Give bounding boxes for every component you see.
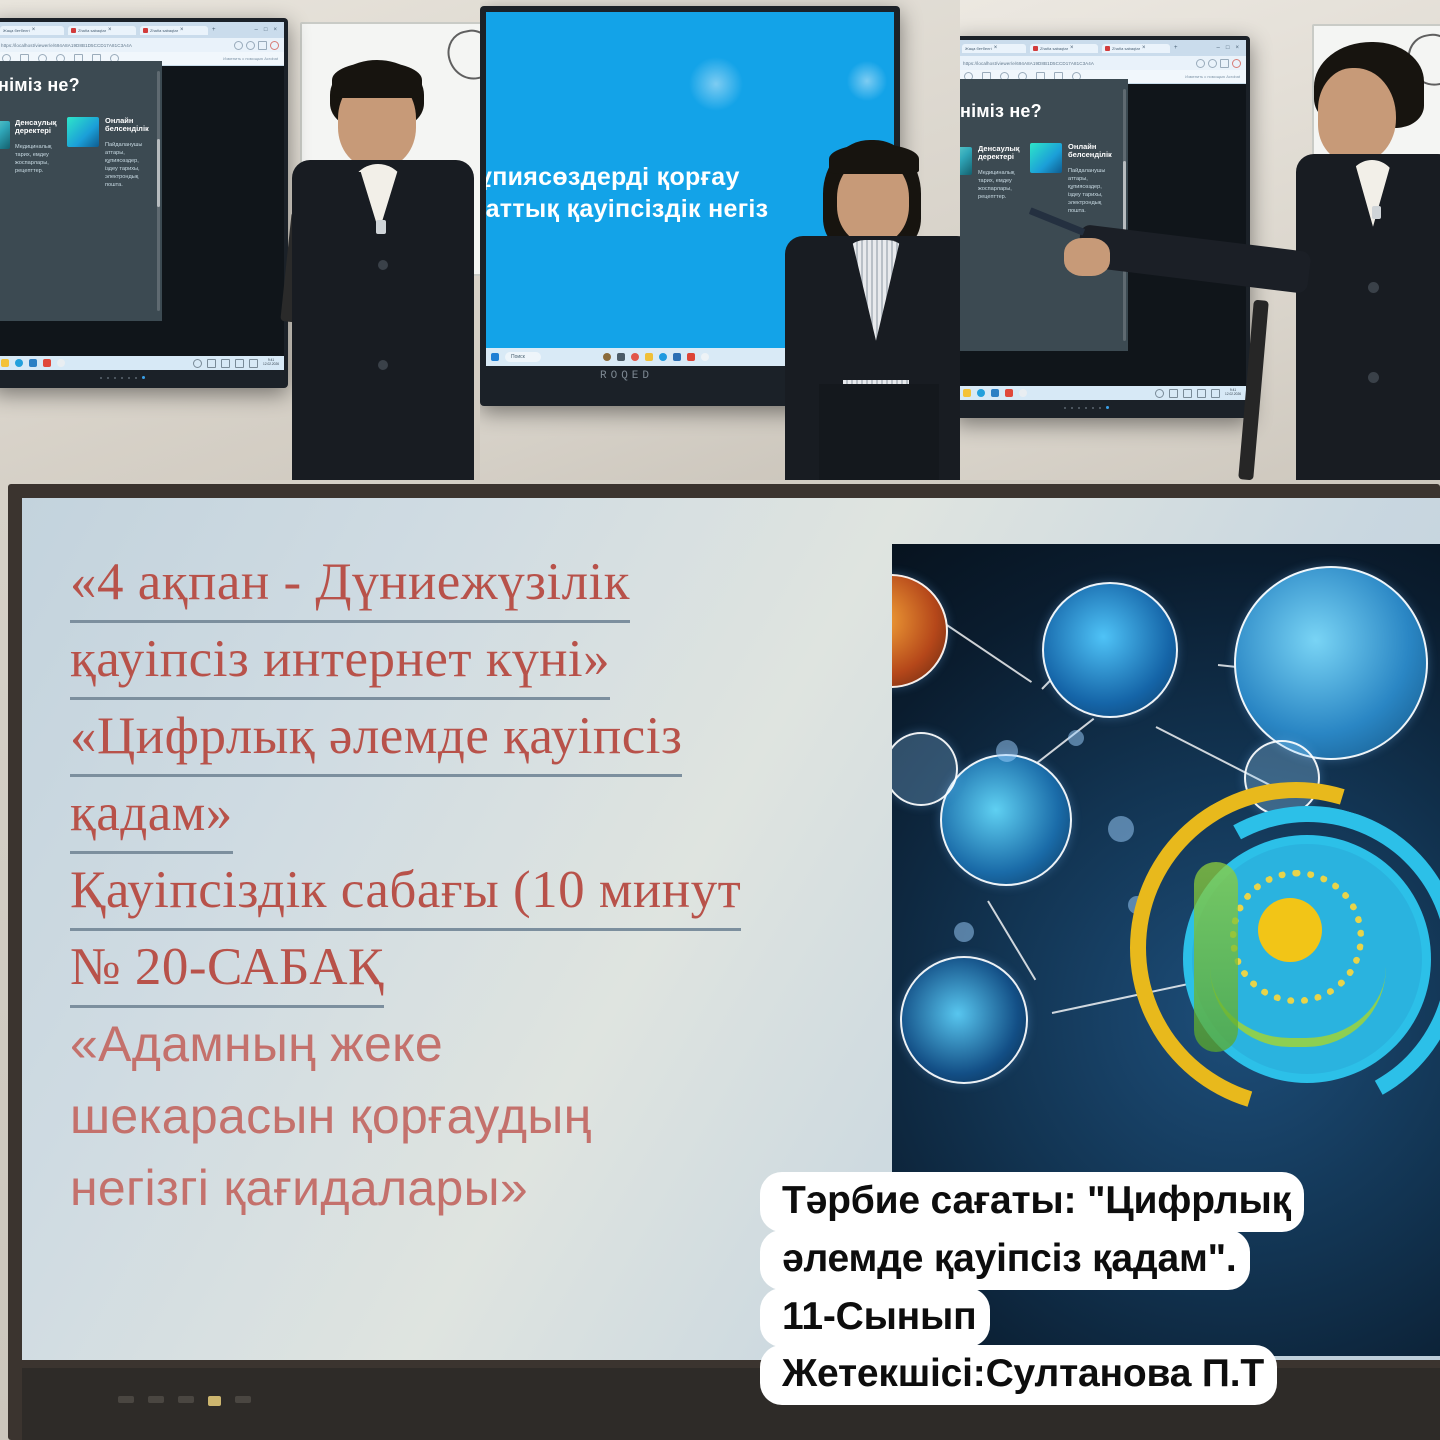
slide-line: «Цифрлық әлемде қауіпсіз	[70, 700, 682, 777]
acrobat-hint: Изменить с помощью Acrobat	[1185, 74, 1240, 79]
main-display-controls[interactable]	[118, 1396, 251, 1406]
system-tray[interactable]: 9:41 12.02.2026	[193, 359, 279, 368]
tab-favicon	[1105, 46, 1110, 51]
hair-front	[332, 62, 422, 98]
tab-close-icon[interactable]: ×	[32, 27, 36, 33]
slide-heading: німіз не?	[0, 75, 80, 96]
close-button[interactable]: ×	[273, 27, 277, 33]
node-photo	[940, 754, 1072, 886]
keyboard-icon[interactable]	[207, 359, 216, 368]
volume-icon[interactable]	[235, 359, 244, 368]
extensions-icon[interactable]	[258, 41, 267, 50]
opera-icon[interactable]	[631, 353, 639, 361]
minimize-button[interactable]: –	[1217, 45, 1220, 51]
start-icon[interactable]	[491, 353, 499, 361]
start-icon[interactable]	[963, 389, 971, 397]
browser-chrome: Жаңа бетбелгі × Zhaña sabaqtar × Zhaña s…	[0, 22, 284, 66]
edge-icon[interactable]	[977, 389, 985, 397]
online-activity-icon	[1030, 143, 1062, 173]
slide-line: қауіпсіз интернет күні»	[70, 623, 610, 700]
slide-line: шекарасын қорғаудың	[70, 1088, 592, 1144]
volume-icon[interactable]	[1197, 389, 1206, 398]
pdf-reader-icon[interactable]	[43, 359, 51, 367]
pdf-reader-icon[interactable]	[1005, 389, 1013, 397]
chevron-up-icon[interactable]	[193, 359, 202, 368]
keyboard-icon[interactable]	[1169, 389, 1178, 398]
skirt	[819, 384, 939, 480]
start-icon[interactable]	[1, 359, 9, 367]
online-activity-icon	[67, 117, 99, 147]
scrollbar-thumb[interactable]	[1123, 161, 1126, 232]
battery-icon[interactable]	[249, 359, 258, 368]
browser-address-row[interactable]: https://localhost/viewer/e/694A8A19D8B1D…	[0, 38, 284, 52]
caption-line: Жетекшісі:Султанова П.Т	[760, 1345, 1277, 1405]
new-tab-button[interactable]: +	[212, 27, 216, 33]
caption-line: әлемде қауіпсіз қадам".	[760, 1230, 1250, 1290]
profile-icon[interactable]	[270, 41, 279, 50]
column-title: Онлайн белсенділік	[105, 117, 150, 134]
network-icon[interactable]	[1183, 389, 1192, 398]
chevron-up-icon[interactable]	[1155, 389, 1164, 398]
bookmark-star-icon[interactable]	[1196, 59, 1205, 68]
button	[378, 260, 388, 270]
slide-line: раттық қауіпсіздік негіз	[486, 194, 768, 225]
browser-tab[interactable]: Zhaña sabaqtar ×	[1102, 44, 1170, 53]
browser-tab[interactable]: Zhaña sabaqtar ×	[68, 26, 136, 35]
pdf-reader-icon[interactable]	[687, 353, 695, 361]
browser-tab-bar[interactable]: Жаңа бетбелгі × Zhaña sabaqtar × Zhaña s…	[960, 40, 1246, 56]
health-data-icon	[960, 147, 972, 175]
maximize-button[interactable]: □	[264, 27, 268, 33]
slide-line: «Адамның жеке	[70, 1016, 443, 1072]
column-title: Денсаулық деректері	[15, 119, 57, 136]
pdf-slide: німіз не? Денсаулық деректері Медициналы…	[0, 61, 162, 321]
tab-close-icon[interactable]: ×	[994, 45, 998, 51]
slide-heading: німіз не?	[960, 101, 1042, 122]
caption-line: Тәрбие сағаты: "Цифрлық	[760, 1172, 1304, 1232]
whatsapp-icon[interactable]	[57, 359, 65, 367]
top-photo-strip: Жаңа бетбелгі × Zhaña sabaqtar × Zhaña s…	[0, 0, 1440, 480]
tab-favicon	[71, 28, 76, 33]
caption-line: 11-Сынып	[760, 1288, 990, 1348]
extensions-icon[interactable]	[1220, 59, 1229, 68]
windows-taskbar[interactable]: 9:41 12.02.2026	[960, 386, 1246, 400]
windows-taskbar[interactable]: 9:41 12.02.2026	[0, 356, 284, 370]
explorer-icon[interactable]	[29, 359, 37, 367]
folder-icon[interactable]	[645, 353, 653, 361]
tab-favicon	[143, 28, 148, 33]
interactive-display[interactable]: Жаңа бетбелгі × Zhaña sabaqtar × Zhaña s…	[0, 18, 288, 388]
network-icon[interactable]	[221, 359, 230, 368]
taskbar-clock[interactable]: 9:41 12.02.2026	[263, 359, 279, 366]
person-student-left	[286, 60, 480, 480]
node-photo	[900, 956, 1028, 1084]
taskbar-search[interactable]: Поиск	[505, 352, 541, 362]
kz-ornament	[1194, 862, 1238, 1052]
person-student-middle	[785, 140, 960, 480]
edge-icon[interactable]	[15, 359, 23, 367]
slide-line: Қауіпсіздік сабағы (10 минут	[70, 854, 741, 931]
browser-tab[interactable]: Zhaña sabaqtar ×	[1030, 44, 1098, 53]
necklace-pendant	[1372, 206, 1381, 219]
column-body: Пайдаланушы аттары, құпиясөздер, іздеу т…	[1068, 167, 1114, 216]
tab-close-icon[interactable]: ×	[180, 27, 184, 33]
button	[378, 360, 388, 370]
terminal-icon[interactable]	[617, 353, 625, 361]
bookmark-star-icon[interactable]	[234, 41, 243, 50]
slide-text-block: «4 ақпан - Дүниежүзілік қауіпсіз интерне…	[70, 546, 870, 1224]
column-body: Медициналық тарих, емдеу жоспарлары, рец…	[978, 169, 1020, 201]
display-brand-logo: ROQED	[600, 370, 653, 382]
download-icon[interactable]	[1208, 59, 1217, 68]
slide-line: «4 ақпан - Дүниежүзілік	[70, 546, 630, 623]
head	[1318, 68, 1396, 162]
edge-icon[interactable]	[659, 353, 667, 361]
acrobat-hint: Изменить с помощью Acrobat	[223, 56, 278, 61]
browser-chrome: Жаңа бетбелгі × Zhaña sabaqtar × Zhaña s…	[960, 40, 1246, 84]
health-data-icon	[0, 121, 10, 149]
photo-panel-right: Жаңа бетбелгі × Zhaña sabaqtar × Zhaña s…	[960, 0, 1440, 480]
column-body: Пайдаланушы аттары, құпиясөздер, іздеу т…	[105, 141, 150, 190]
tab-close-icon[interactable]: ×	[1070, 45, 1074, 51]
maximize-button[interactable]: □	[1226, 45, 1230, 51]
hand	[1064, 238, 1110, 276]
store-icon[interactable]	[673, 353, 681, 361]
column-title: Онлайн белсенділік	[1068, 143, 1114, 160]
browser-address-row[interactable]: https://localhost/viewer/e/694A8A19D8B1D…	[960, 56, 1246, 70]
taskbar-clock[interactable]: 9:41 12.02.2026	[1225, 389, 1241, 396]
download-icon[interactable]	[246, 41, 255, 50]
photo-panel-left: Жаңа бетбелгі × Zhaña sabaqtar × Zhaña s…	[0, 0, 480, 480]
explorer-icon[interactable]	[991, 389, 999, 397]
browser-tab[interactable]: Жаңа бетбелгі ×	[962, 44, 1026, 53]
tab-favicon	[1033, 46, 1038, 51]
tab-close-icon[interactable]: ×	[1142, 45, 1146, 51]
necklace-pendant	[376, 220, 386, 234]
button	[1368, 282, 1379, 293]
column-body: Медициналық тарих, емдеу жоспарлары, рец…	[15, 143, 57, 175]
caption-overlay: Тәрбие сағаты: "Цифрлық әлемде қауіпсіз …	[760, 1172, 1440, 1403]
profile-icon[interactable]	[1232, 59, 1241, 68]
new-tab-button[interactable]: +	[1174, 45, 1178, 51]
address-bar[interactable]: https://localhost/viewer/e/694A8A19D8B1D…	[963, 61, 1193, 66]
minimize-button[interactable]: –	[255, 27, 258, 33]
button	[1368, 372, 1379, 383]
node-photo	[892, 574, 948, 688]
system-tray[interactable]: 9:41 12.02.2026	[1155, 389, 1241, 398]
person-student-right	[1260, 42, 1440, 480]
photo-panel-middle: ұпиясөздерді қорғау раттық қауіпсіздік н…	[480, 0, 960, 480]
slide-line: ұпиясөздерді қорғау	[486, 162, 740, 193]
glare	[846, 60, 888, 102]
browser-tab[interactable]: Жаңа бетбелгі ×	[0, 26, 64, 35]
slide-line: қадам»	[70, 777, 233, 854]
slide-line: № 20-САБАҚ	[70, 931, 384, 1008]
whatsapp-icon[interactable]	[701, 353, 709, 361]
pinned-app-icon[interactable]	[603, 353, 611, 361]
scrollbar-thumb[interactable]	[157, 139, 160, 207]
tab-close-icon[interactable]: ×	[108, 27, 112, 33]
display-led-indicators	[1064, 406, 1109, 409]
kazakhstan-flag-emblem	[1192, 844, 1422, 1074]
whatsapp-icon[interactable]	[1019, 389, 1027, 397]
node-photo	[1042, 582, 1178, 718]
photo-collage: Жаңа бетбелгі × Zhaña sabaqtar × Zhaña s…	[0, 0, 1440, 1440]
display-led-indicators	[100, 376, 145, 379]
close-button[interactable]: ×	[1235, 45, 1239, 51]
address-bar[interactable]: https://localhost/viewer/e/694A8A19D8B1D…	[1, 43, 231, 48]
battery-icon[interactable]	[1211, 389, 1220, 398]
glare	[688, 56, 744, 112]
node-globe	[1234, 566, 1428, 760]
browser-tab-bar[interactable]: Жаңа бетбелгі × Zhaña sabaqtar × Zhaña s…	[0, 22, 284, 38]
hair-front	[829, 144, 919, 174]
slide-line: негізгі қағидалары»	[70, 1160, 528, 1216]
browser-tab[interactable]: Zhaña sabaqtar ×	[140, 26, 208, 35]
column-title: Денсаулық деректері	[978, 145, 1020, 162]
